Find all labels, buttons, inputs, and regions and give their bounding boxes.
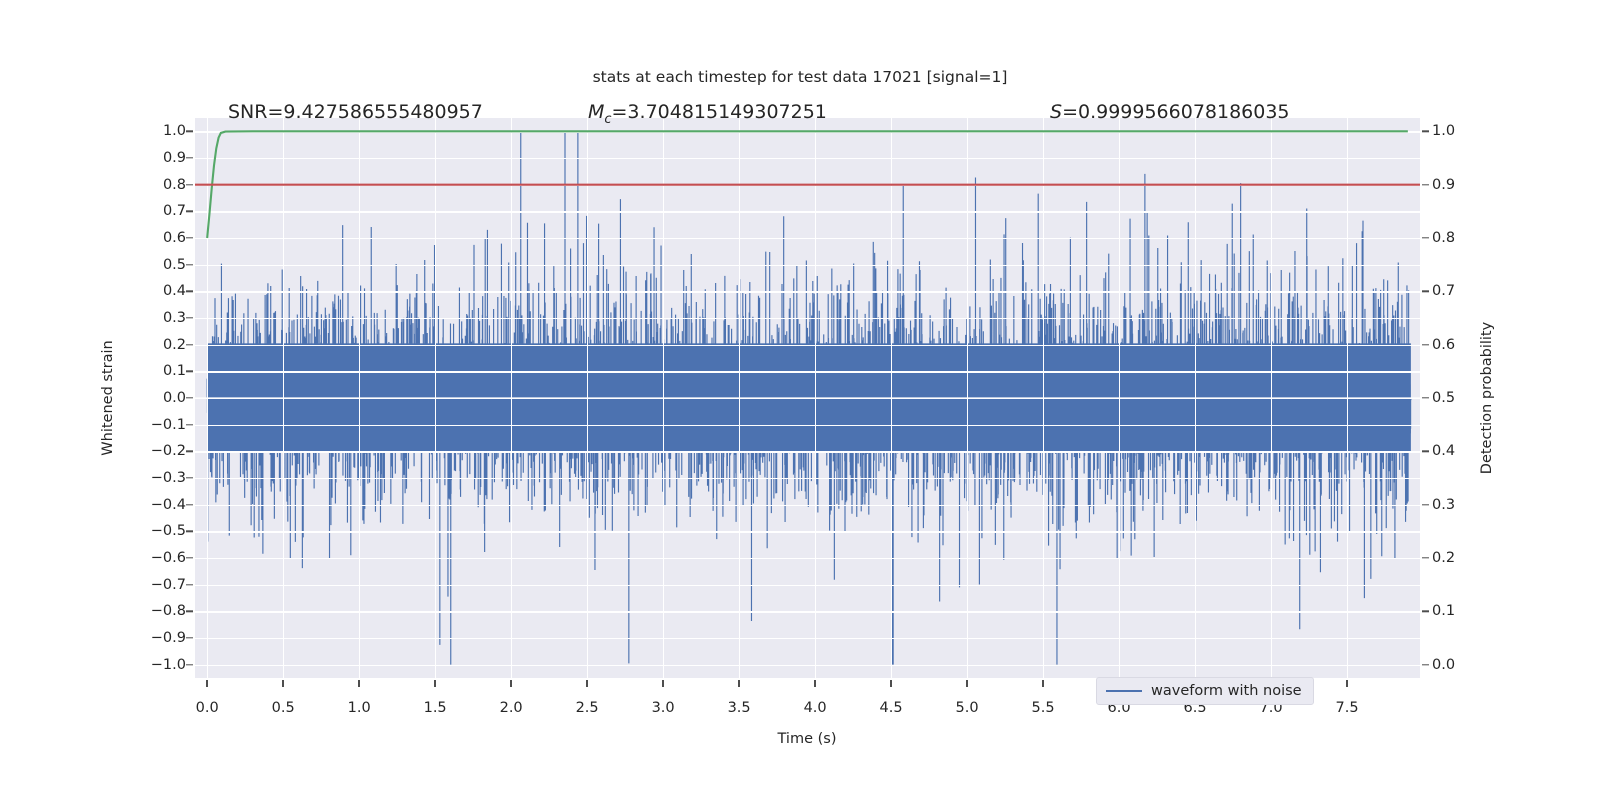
y-axis-left-tick-label: 0.4 bbox=[163, 283, 186, 299]
plot-area bbox=[195, 118, 1420, 678]
y-axis-left-tick-mark bbox=[186, 637, 193, 638]
y-axis-left-tick-label: 0.8 bbox=[163, 177, 186, 193]
y-axis-left-tick-label: 0.1 bbox=[163, 363, 186, 379]
y-axis-right-tick-label: 0.1 bbox=[1432, 603, 1455, 619]
y-axis-right-tick-mark bbox=[1422, 451, 1429, 452]
y-axis-left-tick-label: −0.1 bbox=[151, 417, 186, 433]
x-axis-tick-label: 3.5 bbox=[728, 700, 751, 716]
y-axis-left-tick-label: −0.5 bbox=[151, 523, 186, 539]
x-axis-tick-label: 1.5 bbox=[424, 700, 447, 716]
x-axis-tick-mark bbox=[358, 680, 359, 687]
y-axis-left-tick-label: 0.9 bbox=[163, 150, 186, 166]
y-axis-left-tick-mark bbox=[186, 157, 193, 158]
y-axis-left-tick-mark bbox=[186, 371, 193, 372]
x-axis-tick-mark bbox=[966, 680, 967, 687]
y-axis-left-tick-mark bbox=[186, 344, 193, 345]
y-axis-right-tick-mark bbox=[1422, 237, 1429, 238]
annotation-mc-subscript: c bbox=[604, 112, 611, 127]
y-axis-left-tick-label: −0.6 bbox=[151, 550, 186, 566]
y-axis-right-tick-mark bbox=[1422, 664, 1429, 665]
x-axis-tick-label: 4.0 bbox=[804, 700, 827, 716]
y-axis-right-tick-mark bbox=[1422, 184, 1429, 185]
y-axis-left-tick-label: −0.9 bbox=[151, 630, 186, 646]
x-axis-tick-label: 2.5 bbox=[576, 700, 599, 716]
y-axis-right-label: Detection probability bbox=[1479, 322, 1495, 474]
y-axis-left-label: Whitened strain bbox=[100, 340, 116, 455]
annotation-snr: SNR=9.427586555480957 bbox=[228, 101, 483, 123]
figure: stats at each timestep for test data 170… bbox=[0, 0, 1600, 800]
y-axis-left-tick-mark bbox=[186, 504, 193, 505]
overlay-lines bbox=[195, 118, 1420, 678]
annotation-s-symbol: S bbox=[1050, 101, 1062, 123]
y-axis-left-tick-mark bbox=[186, 664, 193, 665]
legend-label-waveform: waveform with noise bbox=[1151, 683, 1302, 699]
x-axis-tick-label: 1.0 bbox=[348, 700, 371, 716]
y-axis-left-tick-label: 0.6 bbox=[163, 230, 186, 246]
y-axis-left-tick-label: −0.8 bbox=[151, 603, 186, 619]
y-axis-left-tick-label: 1.0 bbox=[163, 123, 186, 139]
x-axis-tick-label: 4.5 bbox=[880, 700, 903, 716]
annotation-mc-symbol: M bbox=[588, 101, 604, 123]
x-axis-tick-mark bbox=[1346, 680, 1347, 687]
y-axis-right-tick-label: 0.3 bbox=[1432, 497, 1455, 513]
page-title: stats at each timestep for test data 170… bbox=[0, 68, 1600, 86]
y-axis-left-tick-mark bbox=[186, 584, 193, 585]
x-axis-tick-label: 0.0 bbox=[196, 700, 219, 716]
y-axis-left-tick-mark bbox=[186, 557, 193, 558]
y-axis-left-tick-mark bbox=[186, 531, 193, 532]
x-axis-tick-mark bbox=[814, 680, 815, 687]
x-axis-tick-mark bbox=[890, 680, 891, 687]
y-axis-left-tick-mark bbox=[186, 397, 193, 398]
x-axis-tick-mark bbox=[586, 680, 587, 687]
x-axis-tick-mark bbox=[282, 680, 283, 687]
x-axis-tick-label: 5.5 bbox=[1032, 700, 1055, 716]
y-axis-left-tick-label: 0.3 bbox=[163, 310, 186, 326]
x-axis-tick-mark bbox=[738, 680, 739, 687]
x-axis-tick-mark bbox=[1042, 680, 1043, 687]
annotation-s: S=0.9999566078186035 bbox=[1050, 101, 1290, 123]
y-axis-left-tick-label: −0.2 bbox=[151, 443, 186, 459]
y-axis-right-tick-label: 0.0 bbox=[1432, 657, 1455, 673]
y-axis-left-tick-label: 0.7 bbox=[163, 203, 186, 219]
y-axis-right-tick-label: 0.5 bbox=[1432, 390, 1455, 406]
x-axis-tick-mark bbox=[434, 680, 435, 687]
legend-swatch-waveform bbox=[1106, 690, 1142, 692]
y-axis-left-tick-label: −0.7 bbox=[151, 577, 186, 593]
y-axis-left-tick-mark bbox=[186, 264, 193, 265]
legend: waveform with noise bbox=[1096, 677, 1314, 705]
y-axis-left-tick-mark bbox=[186, 237, 193, 238]
y-axis-left-tick-label: 0.0 bbox=[163, 390, 186, 406]
y-axis-right-tick-label: 1.0 bbox=[1432, 123, 1455, 139]
y-axis-right-tick-mark bbox=[1422, 344, 1429, 345]
y-axis-right-tick-mark bbox=[1422, 397, 1429, 398]
annotation-mc-value: =3.704815149307251 bbox=[612, 101, 827, 123]
y-axis-right-tick-label: 0.4 bbox=[1432, 443, 1455, 459]
y-axis-left-tick-mark bbox=[186, 451, 193, 452]
y-axis-right-tick-mark bbox=[1422, 611, 1429, 612]
y-axis-left-tick-mark bbox=[186, 317, 193, 318]
x-axis-tick-label: 5.0 bbox=[956, 700, 979, 716]
x-axis-tick-mark bbox=[206, 680, 207, 687]
annotation-mc: Mc=3.704815149307251 bbox=[588, 101, 827, 127]
y-axis-right-tick-label: 0.6 bbox=[1432, 337, 1455, 353]
y-axis-left-tick-label: −1.0 bbox=[151, 657, 186, 673]
y-axis-left-tick-label: 0.5 bbox=[163, 257, 186, 273]
x-axis-tick-mark bbox=[510, 680, 511, 687]
y-axis-left-tick-mark bbox=[186, 477, 193, 478]
y-axis-right-tick-label: 0.2 bbox=[1432, 550, 1455, 566]
y-axis-right-tick-mark bbox=[1422, 557, 1429, 558]
y-axis-right-tick-label: 0.7 bbox=[1432, 283, 1455, 299]
x-axis-tick-label: 0.5 bbox=[272, 700, 295, 716]
y-axis-right-tick-mark bbox=[1422, 291, 1429, 292]
y-axis-right-tick-mark bbox=[1422, 131, 1429, 132]
y-axis-left-tick-mark bbox=[186, 611, 193, 612]
y-axis-left-tick-label: −0.4 bbox=[151, 497, 186, 513]
y-axis-left-tick-mark bbox=[186, 211, 193, 212]
x-axis-label: Time (s) bbox=[778, 731, 837, 747]
y-axis-right-tick-label: 0.9 bbox=[1432, 177, 1455, 193]
x-axis-tick-label: 3.0 bbox=[652, 700, 675, 716]
y-axis-left-tick-label: −0.3 bbox=[151, 470, 186, 486]
x-axis-tick-label: 7.5 bbox=[1336, 700, 1359, 716]
y-axis-left-tick-mark bbox=[186, 291, 193, 292]
y-axis-left-tick-mark bbox=[186, 131, 193, 132]
x-axis-tick-mark bbox=[662, 680, 663, 687]
y-axis-left-tick-label: 0.2 bbox=[163, 337, 186, 353]
y-axis-right-tick-label: 0.8 bbox=[1432, 230, 1455, 246]
y-axis-right-tick-mark bbox=[1422, 504, 1429, 505]
y-axis-left-tick-mark bbox=[186, 184, 193, 185]
x-axis-tick-label: 2.0 bbox=[500, 700, 523, 716]
y-axis-left-tick-mark bbox=[186, 424, 193, 425]
annotation-s-value: =0.9999566078186035 bbox=[1062, 101, 1289, 123]
annotation-snr-text: SNR=9.427586555480957 bbox=[228, 101, 483, 123]
